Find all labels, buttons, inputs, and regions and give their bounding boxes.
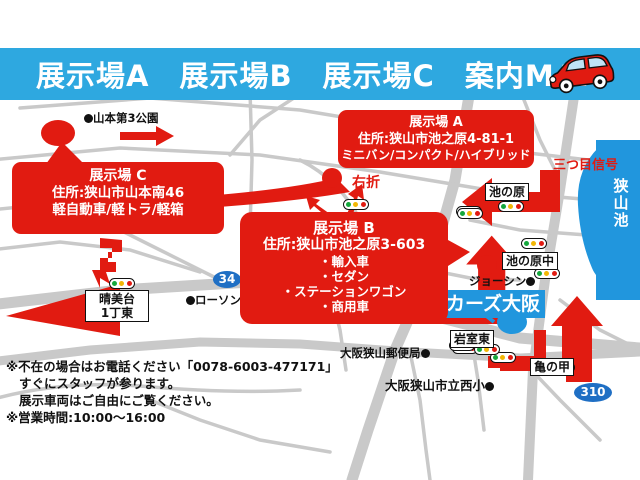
map-screenshot: 展示場A 展示場B 展示場C 案内MAP	[0, 0, 640, 480]
notes-block: ※不在の場合はお電話ください「0078-6003-477171」 すぐにスタッフ…	[6, 358, 306, 426]
red-car-icon	[546, 54, 616, 96]
page-title: 展示場A 展示場B 展示場C 案内MAP	[36, 57, 536, 95]
note-line-4: ※営業時間:10:00～16:00	[6, 409, 306, 426]
note-line-1: ※不在の場合はお電話ください「0078-6003-477171」	[6, 358, 306, 375]
note-line-2: すぐにスタッフが参ります。	[6, 375, 306, 392]
note-line-3: 展示車両はご自由にご覧ください。	[6, 392, 306, 409]
